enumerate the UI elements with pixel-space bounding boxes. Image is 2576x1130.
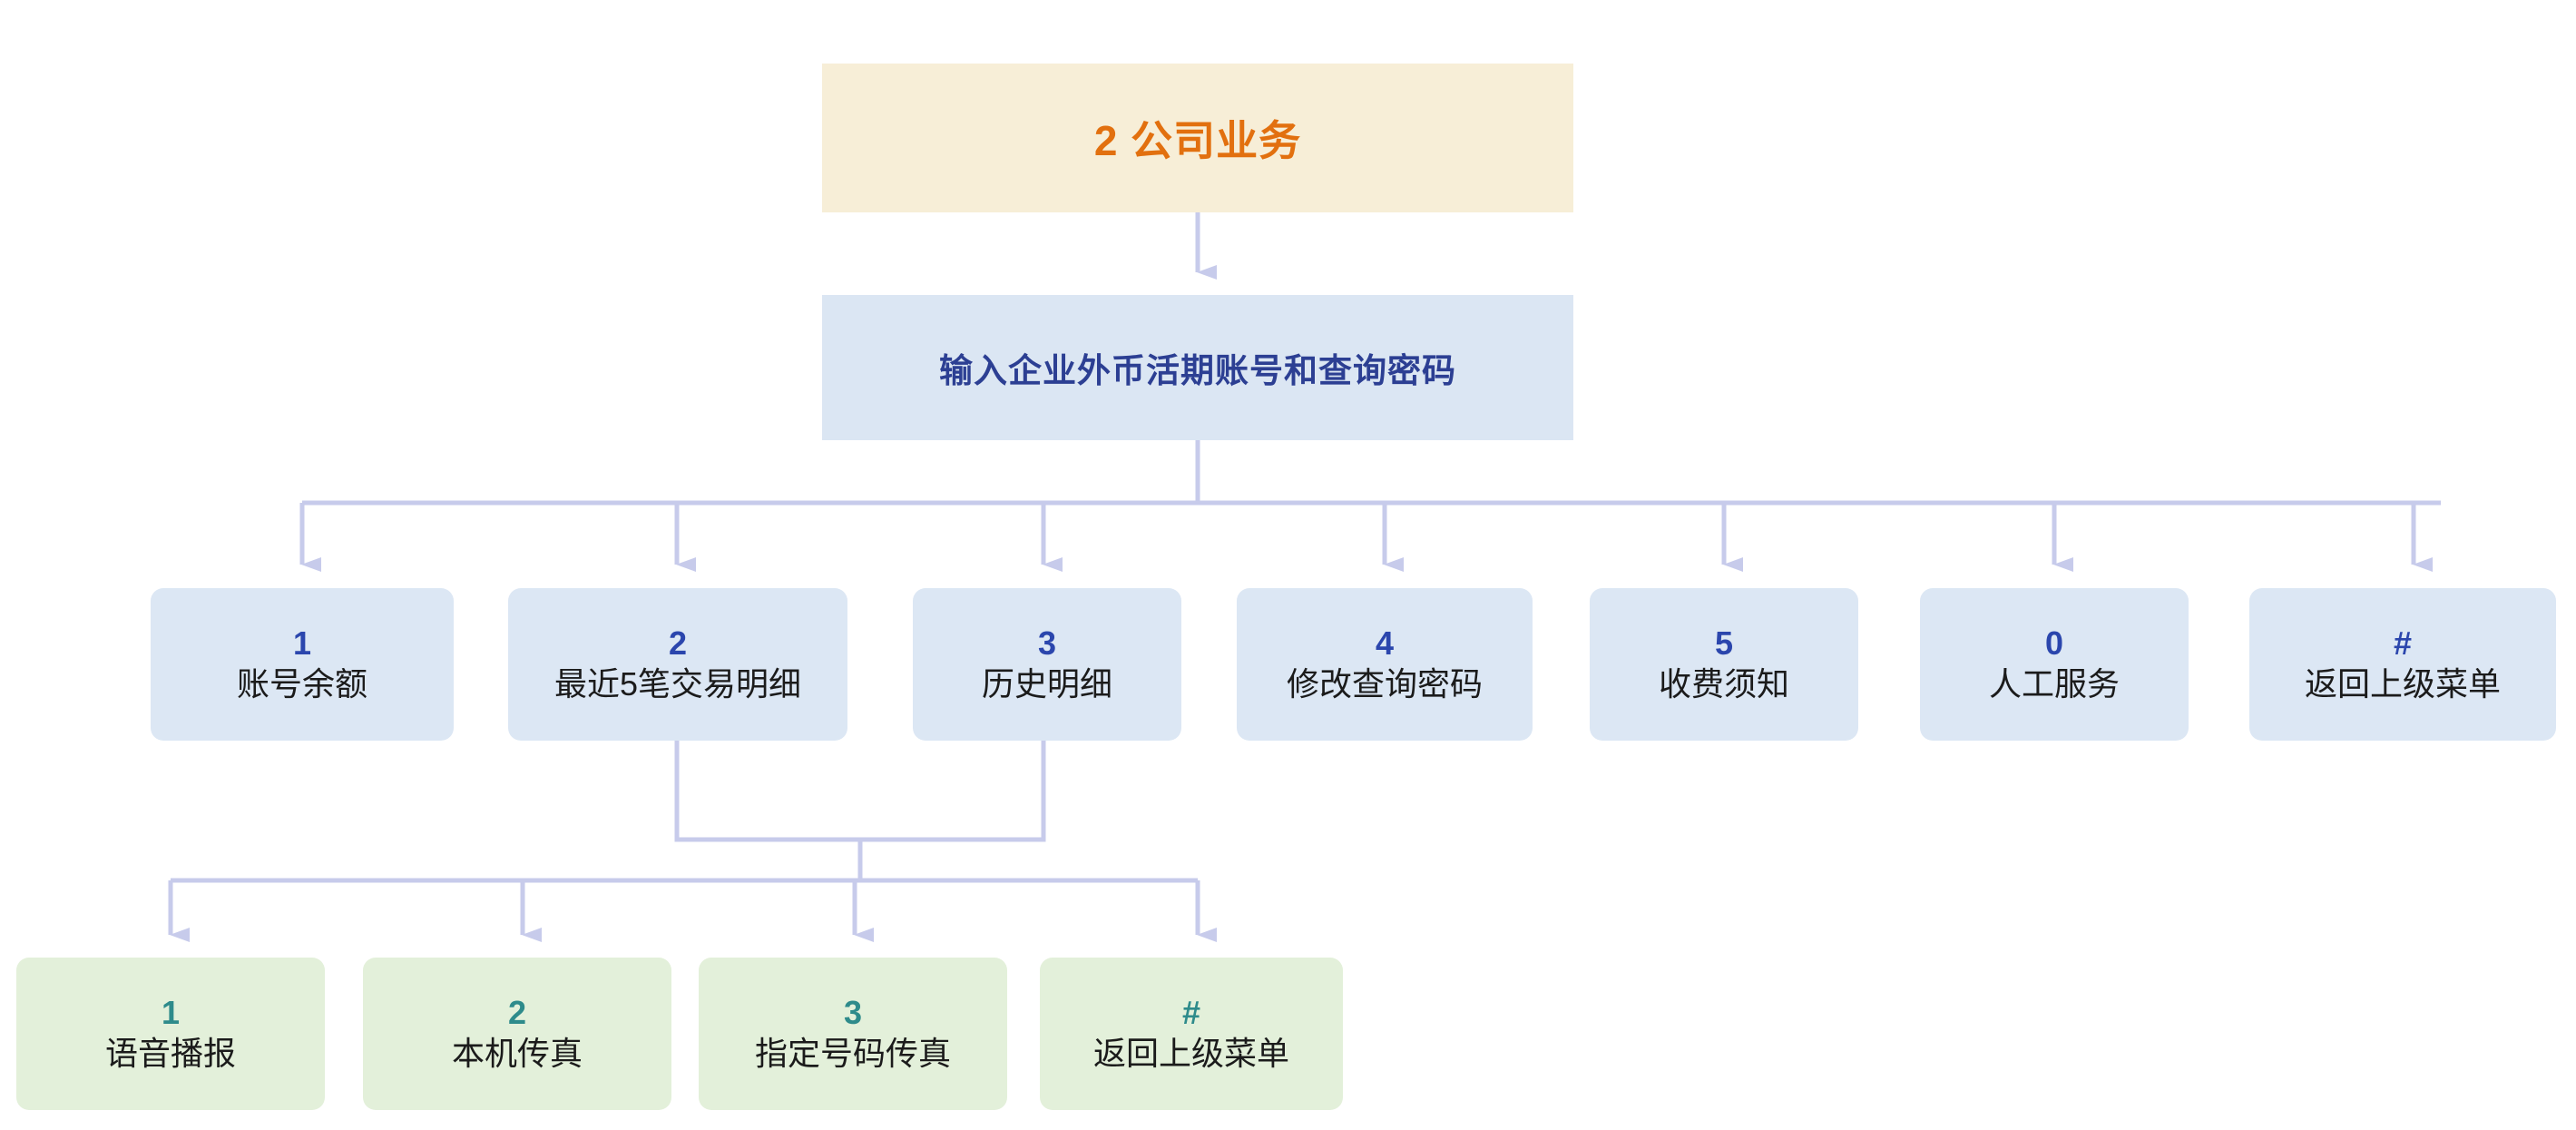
flowchart-canvas: 2 公司业务 输入企业外币活期账号和查询密码 1 账号余额 2 最近5笔交易明细… [0,0,2576,1130]
submenu-item-1[interactable]: 1 语音播报 [16,958,325,1110]
submenu-item-3-key: 3 [844,995,862,1031]
menu-item-hash-key: # [2394,625,2412,662]
menu-item-1[interactable]: 1 账号余额 [151,588,454,741]
menu-item-0[interactable]: 0 人工服务 [1920,588,2189,741]
edge-join-item2-item3 [677,741,1043,840]
menu-item-2-key: 2 [669,625,687,662]
menu-item-hash-label: 返回上级菜单 [2305,665,2501,703]
menu-item-2-label: 最近5笔交易明细 [554,665,801,703]
menu-item-4[interactable]: 4 修改查询密码 [1237,588,1533,741]
submenu-item-hash-label: 返回上级菜单 [1093,1035,1289,1072]
menu-item-5-key: 5 [1715,625,1733,662]
menu-item-0-key: 0 [2045,625,2063,662]
menu-item-3-key: 3 [1038,625,1056,662]
title-text: 2 公司业务 [1094,108,1301,168]
menu-item-2[interactable]: 2 最近5笔交易明细 [508,588,847,741]
node-title: 2 公司业务 [822,64,1573,212]
menu-item-4-key: 4 [1376,625,1394,662]
submenu-item-2-key: 2 [508,995,526,1031]
submenu-item-2-label: 本机传真 [452,1035,583,1072]
menu-item-3-label: 历史明细 [982,665,1112,703]
menu-item-5-label: 收费须知 [1659,665,1789,703]
submenu-item-1-label: 语音播报 [105,1035,236,1072]
menu-item-4-label: 修改查询密码 [1287,665,1483,703]
menu-item-hash[interactable]: # 返回上级菜单 [2249,588,2556,741]
menu-item-3[interactable]: 3 历史明细 [913,588,1181,741]
prompt-text: 输入企业外币活期账号和查询密码 [939,343,1456,392]
menu-item-5[interactable]: 5 收费须知 [1590,588,1858,741]
menu-item-0-label: 人工服务 [1989,665,2120,703]
submenu-item-2[interactable]: 2 本机传真 [363,958,671,1110]
submenu-item-1-key: 1 [162,995,180,1031]
menu-item-1-label: 账号余额 [237,665,367,703]
node-prompt: 输入企业外币活期账号和查询密码 [822,295,1573,440]
submenu-item-hash[interactable]: # 返回上级菜单 [1040,958,1343,1110]
submenu-item-3-label: 指定号码传真 [755,1035,951,1072]
submenu-item-3[interactable]: 3 指定号码传真 [699,958,1007,1110]
submenu-item-hash-key: # [1182,995,1200,1031]
menu-item-1-key: 1 [293,625,311,662]
